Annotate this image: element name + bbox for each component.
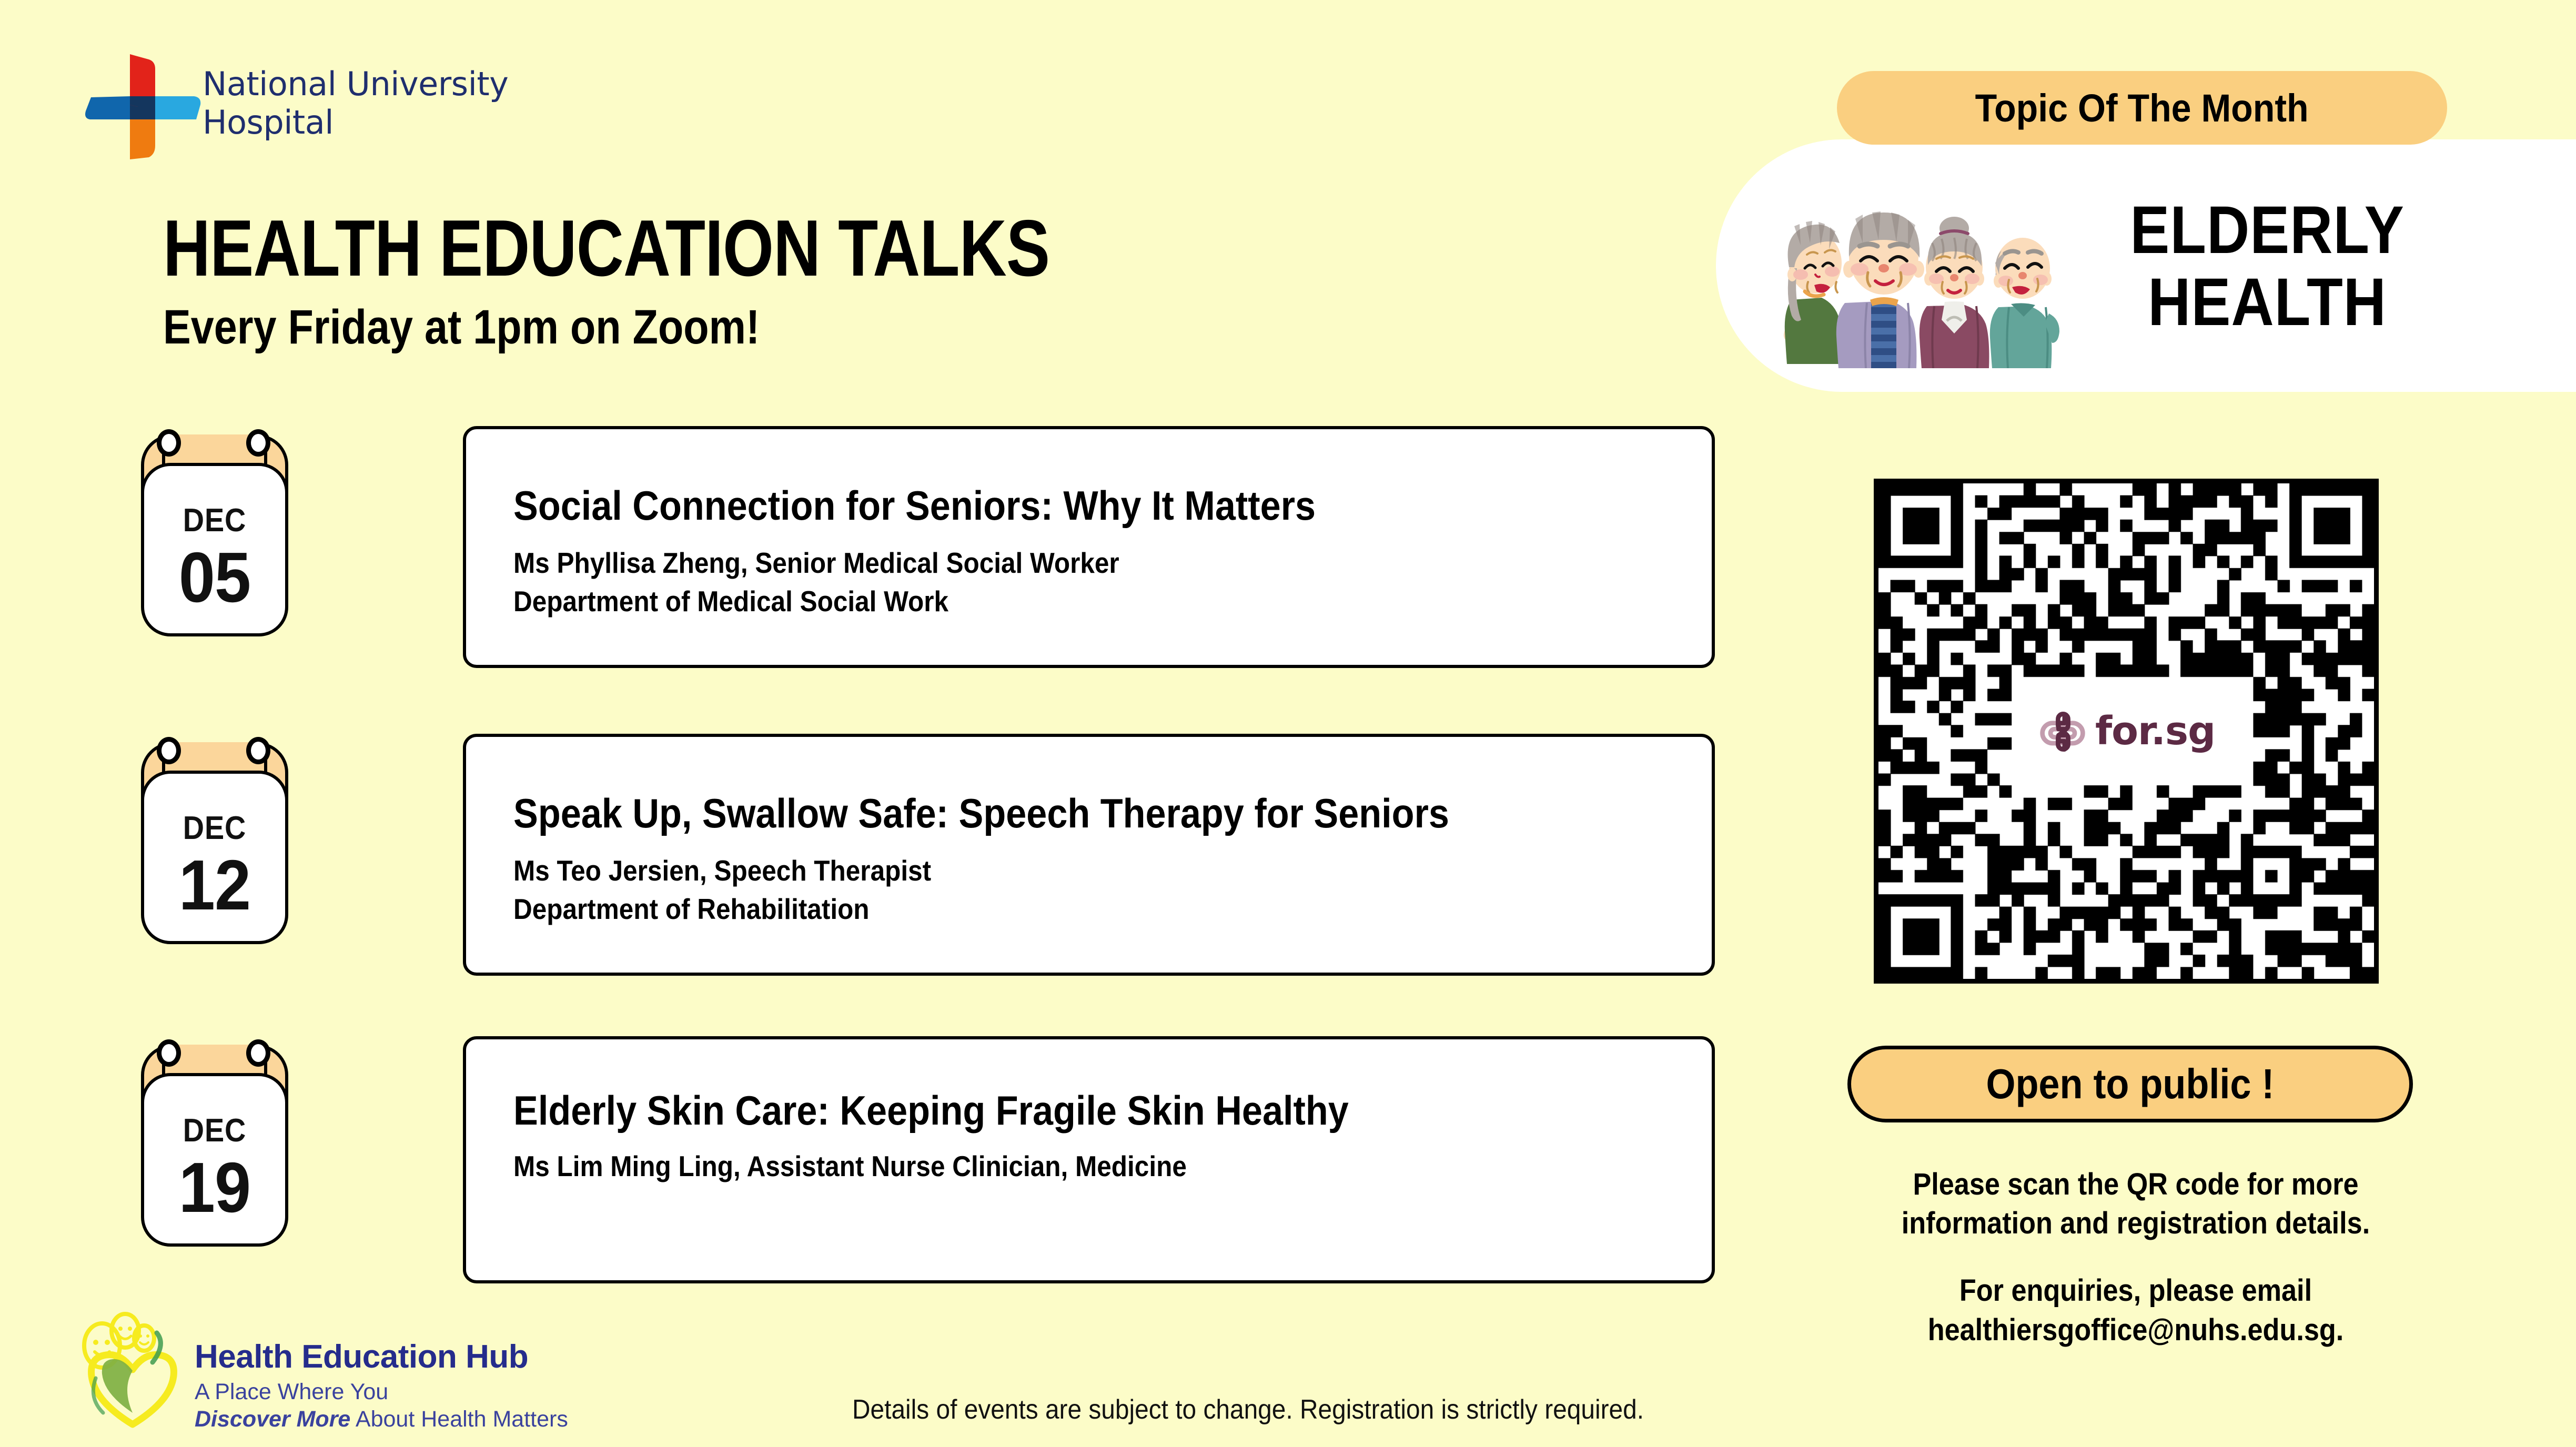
calendar-ring-hole-left (157, 429, 181, 457)
open-to-public-badge: Open to public ! (1847, 1046, 2413, 1122)
qr-logo-text: for.sg (2095, 709, 2215, 754)
nuh-pinwheel-logo-icon (82, 50, 203, 163)
event-card[interactable]: Elderly Skin Care: Keeping Fragile Skin … (463, 1036, 1715, 1283)
event-speaker: Ms Teo Jersien, Speech Therapist Departm… (513, 852, 931, 928)
health-education-hub-logo: Health Education Hub A Place Where You D… (74, 1310, 600, 1441)
calendar-icon: DEC 19 (141, 1035, 288, 1251)
topic-heading: ELDERLY HEALTH (2105, 195, 2429, 339)
hub-heart-faces-icon (74, 1310, 195, 1431)
qr-center-logo: for.sg (2016, 697, 2237, 765)
calendar-day: 12 (147, 844, 282, 926)
calendar-ring-hole-right (246, 1039, 270, 1067)
calendar-icon: DEC 12 (141, 733, 288, 948)
calendar-ring-hole-left (157, 1039, 181, 1067)
event-speaker: Ms Phyllisa Zheng, Senior Medical Social… (513, 544, 1119, 621)
four-elderly-people-illustration (1775, 195, 2059, 368)
hub-tagline-line1: A Place Where You (195, 1379, 388, 1405)
event-title: Elderly Skin Care: Keeping Fragile Skin … (513, 1087, 1349, 1135)
calendar-ring-hole-right (246, 737, 270, 764)
hub-tagline-line2: Discover More About Health Matters (195, 1406, 568, 1432)
nuh-wordmark: National University Hospital (203, 65, 508, 141)
calendar-day: 19 (147, 1147, 282, 1228)
page-title: HEALTH EDUCATION TALKS (163, 203, 1049, 295)
calendar-month: DEC (148, 502, 281, 539)
calendar-ring-hole-right (246, 429, 270, 457)
poster-canvas: National University Hospital HEALTH EDUC… (0, 0, 2576, 1447)
event-speaker: Ms Lim Ming Ling, Assistant Nurse Clinic… (513, 1147, 1187, 1186)
event-card[interactable]: Social Connection for Seniors: Why It Ma… (463, 426, 1715, 668)
topic-of-the-month-badge: Topic Of The Month (1837, 71, 2447, 145)
page-subtitle: Every Friday at 1pm on Zoom! (163, 300, 760, 355)
event-title: Speak Up, Swallow Safe: Speech Therapy f… (513, 790, 1449, 837)
footer-disclaimer: Details of events are subject to change.… (852, 1394, 1644, 1425)
event-card[interactable]: Speak Up, Swallow Safe: Speech Therapy f… (463, 734, 1715, 976)
chain-link-cross-icon (2037, 706, 2088, 756)
hub-tagline-emphasis: Discover More (195, 1406, 350, 1432)
enquiries-note: For enquiries, please email healthiersgo… (1823, 1271, 2448, 1349)
hub-name: Health Education Hub (195, 1338, 528, 1375)
qr-code[interactable]: for.sg (1874, 479, 2379, 984)
nuh-logo: National University Hospital (82, 50, 608, 166)
hub-tagline-rest: About Health Matters (350, 1406, 568, 1432)
open-to-public-label: Open to public ! (1986, 1060, 2275, 1108)
event-title: Social Connection for Seniors: Why It Ma… (513, 482, 1316, 530)
calendar-month: DEC (148, 1112, 281, 1149)
calendar-day: 05 (147, 537, 282, 618)
scan-note: Please scan the QR code for more informa… (1823, 1165, 2448, 1243)
topic-badge-label: Topic Of The Month (1975, 86, 2309, 130)
registration-notes: Please scan the QR code for more informa… (1789, 1165, 2483, 1350)
calendar-month: DEC (148, 809, 281, 847)
calendar-icon: DEC 05 (141, 425, 288, 641)
calendar-ring-hole-left (157, 737, 181, 764)
